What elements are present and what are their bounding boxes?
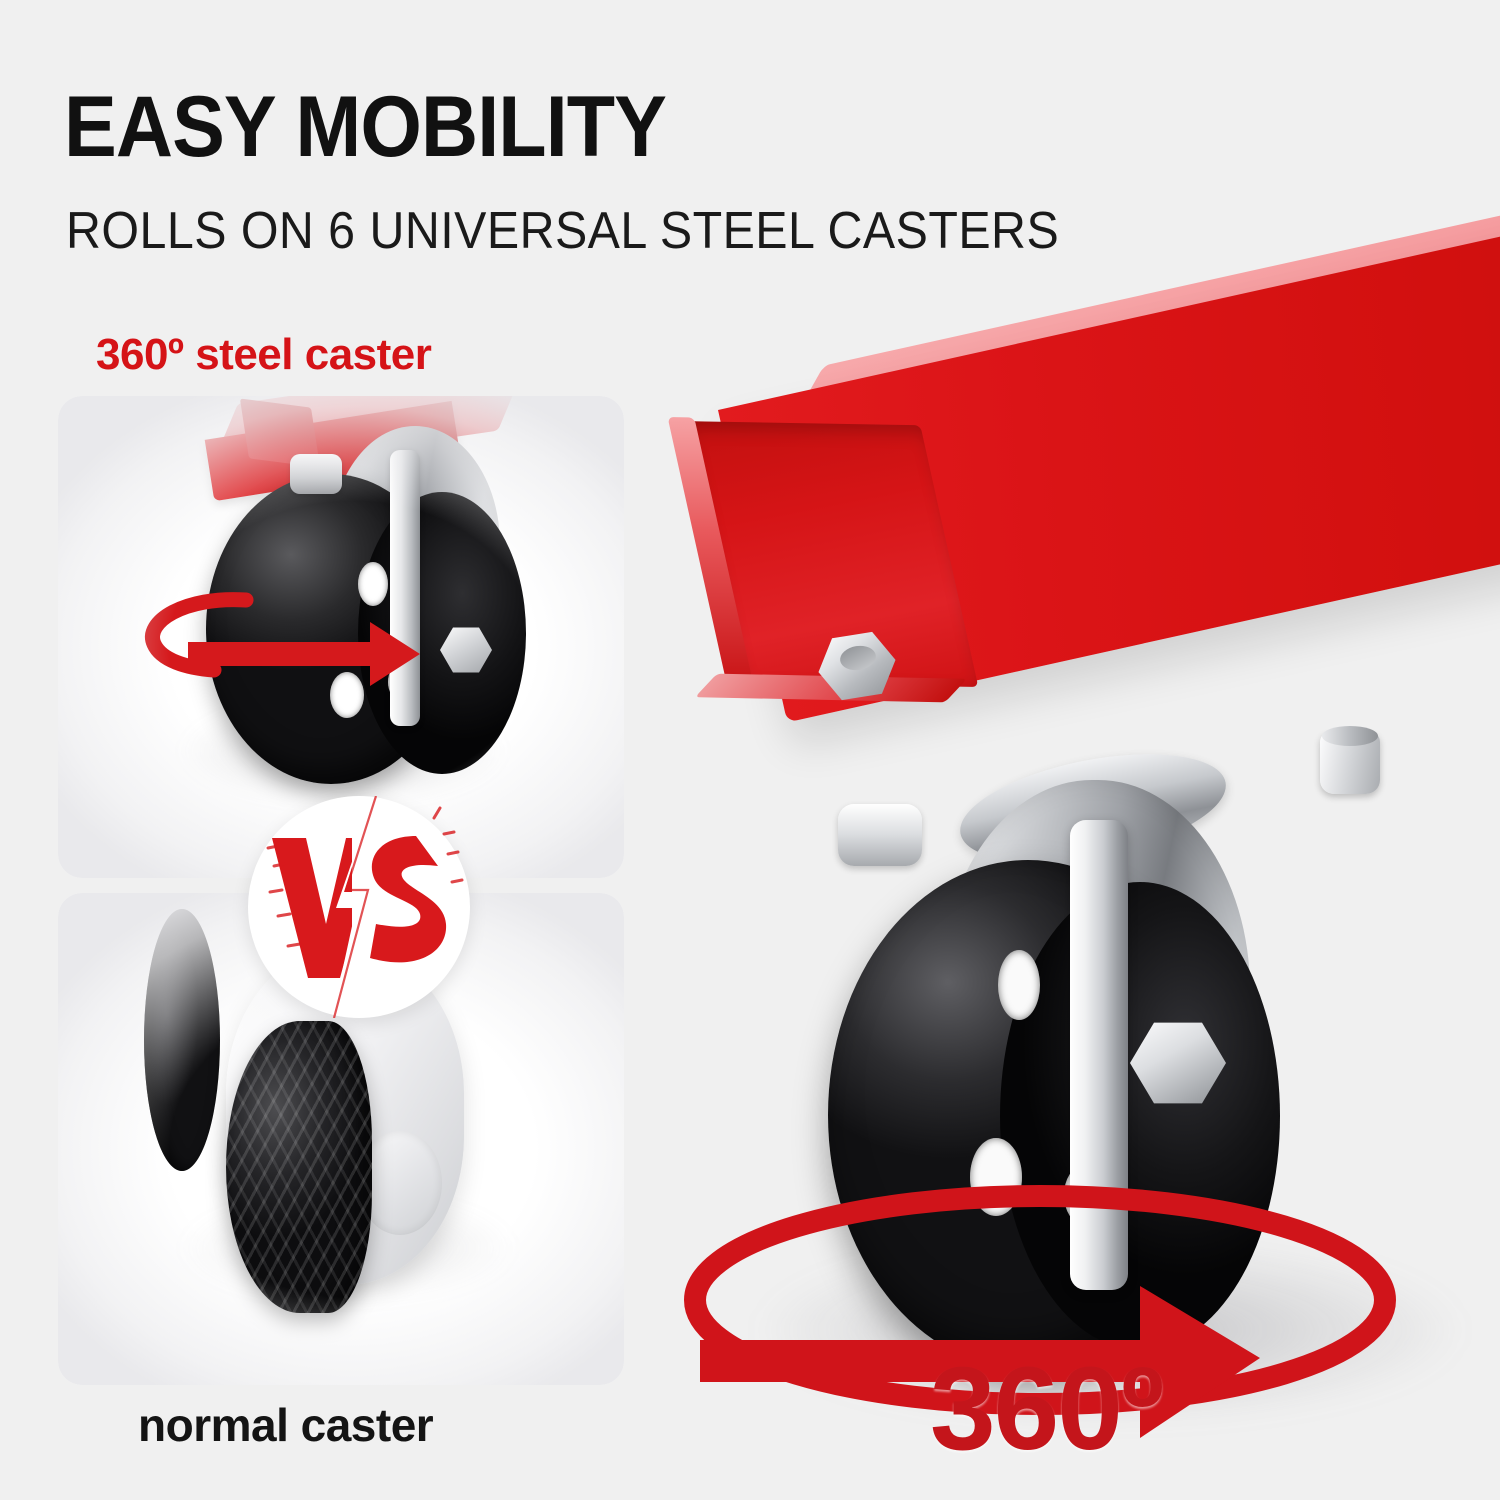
normal-caster-tire xyxy=(226,1021,372,1313)
rotation-degree-label: 360º xyxy=(930,1350,1162,1468)
page-title: EASY MOBILITY xyxy=(64,84,666,170)
vs-badge xyxy=(248,796,470,1018)
rear-bolt-top xyxy=(1322,726,1378,746)
hero-product-photo xyxy=(640,120,1500,1460)
rotation-arrow-icon xyxy=(128,582,458,712)
steel-caster-caption: 360º steel caster xyxy=(96,330,431,380)
product-feature-graphic: EASY MOBILITY ROLLS ON 6 UNIVERSAL STEEL… xyxy=(0,0,1500,1500)
mini-swivel-pin xyxy=(290,454,342,494)
tire-tread-pattern xyxy=(226,1021,372,1313)
wheel-hole xyxy=(998,950,1040,1020)
normal-caster-caption: normal caster xyxy=(138,1398,433,1452)
swivel-pin xyxy=(838,804,922,866)
tire-inner-face xyxy=(144,909,220,1171)
